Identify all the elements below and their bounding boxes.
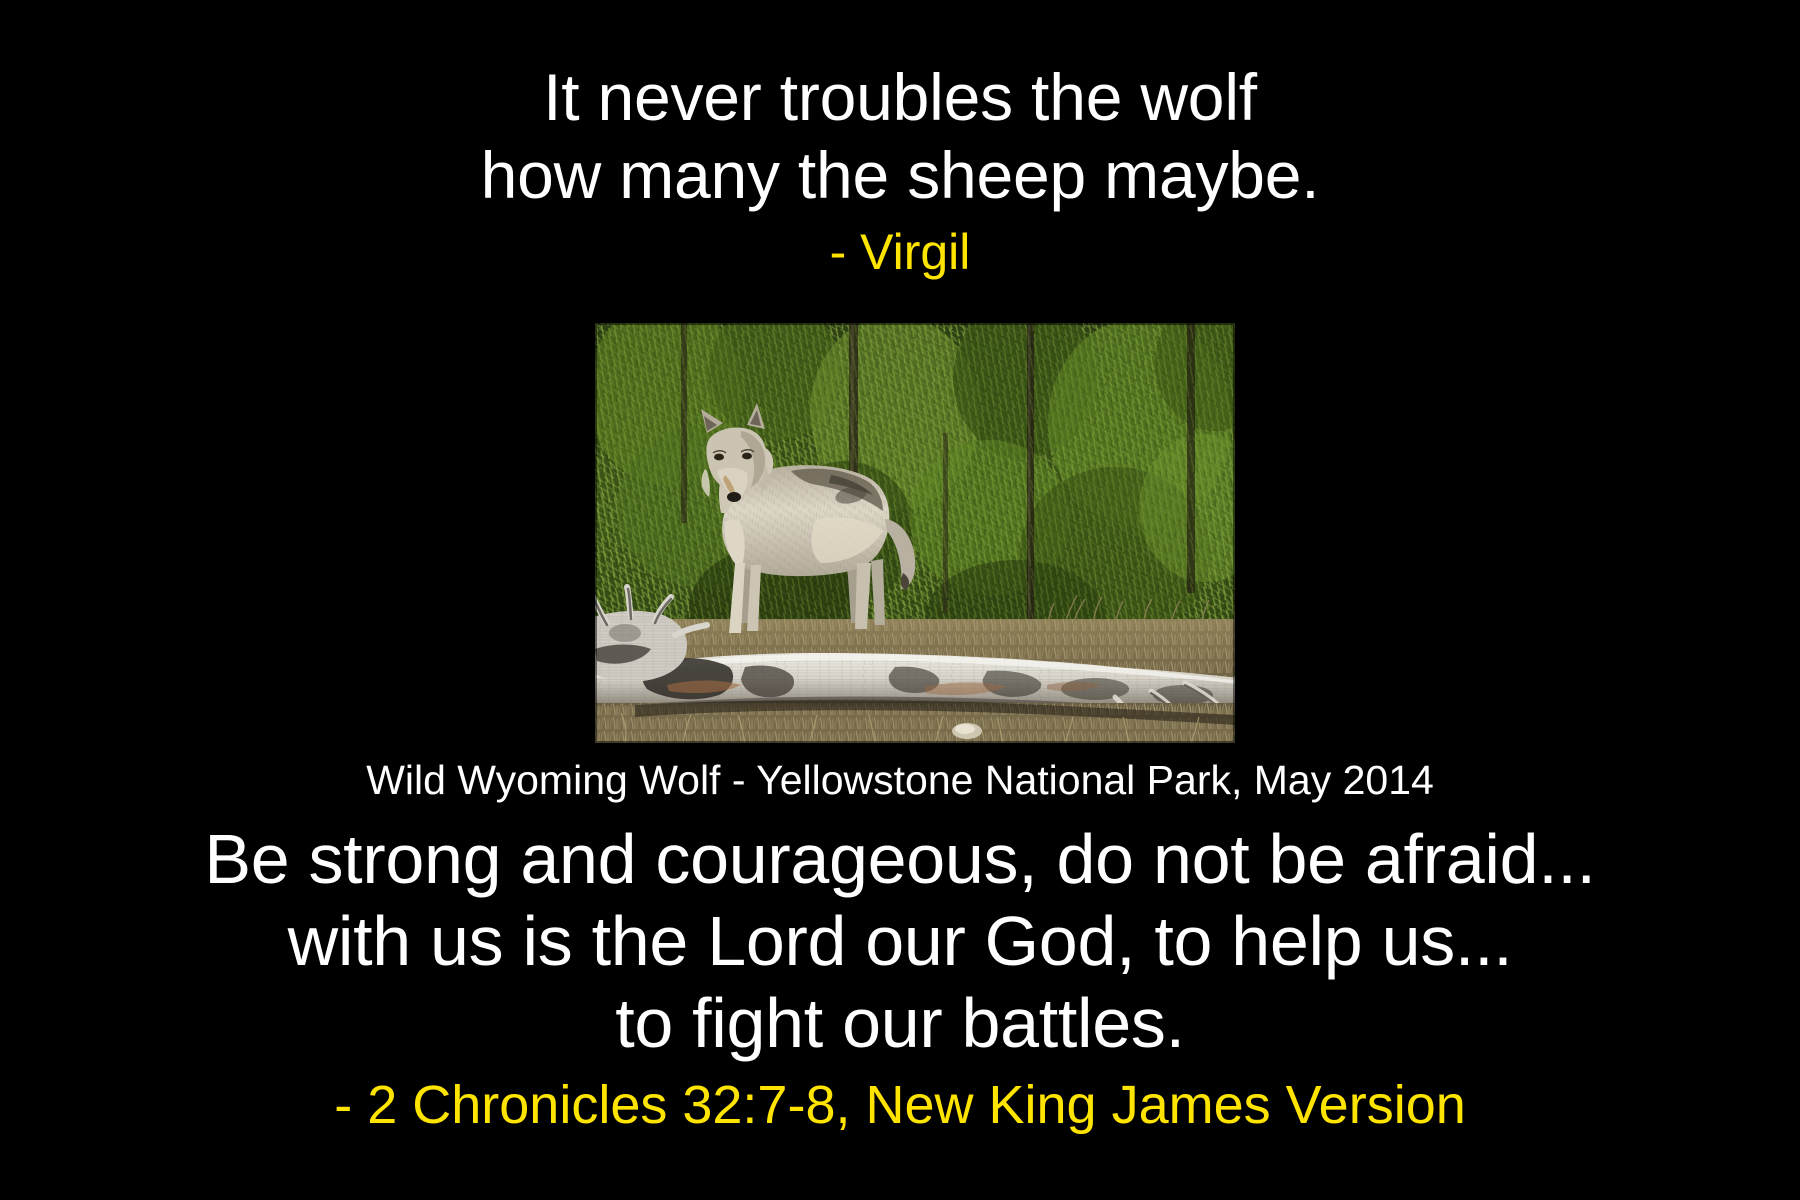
- scripture-block: Be strong and courageous, do not be afra…: [0, 818, 1800, 1136]
- quote-attribution: - Virgil: [0, 224, 1800, 280]
- scripture-reference: - 2 Chronicles 32:7-8, New King James Ve…: [0, 1074, 1800, 1136]
- scripture-line-2: with us is the Lord our God, to help us.…: [0, 900, 1800, 982]
- quote-line-1: It never troubles the wolf: [0, 58, 1800, 136]
- scripture-line-1: Be strong and courageous, do not be afra…: [0, 818, 1800, 900]
- quote-line-2: how many the sheep maybe.: [0, 136, 1800, 214]
- photo-caption: Wild Wyoming Wolf - Yellowstone National…: [0, 756, 1800, 804]
- wolf-photograph-illustration: [595, 323, 1235, 743]
- quote-block: It never troubles the wolf how many the …: [0, 58, 1800, 280]
- wolf-photograph: [595, 323, 1235, 743]
- quote-slide: It never troubles the wolf how many the …: [0, 0, 1800, 1200]
- scripture-line-3: to fight our battles.: [0, 982, 1800, 1064]
